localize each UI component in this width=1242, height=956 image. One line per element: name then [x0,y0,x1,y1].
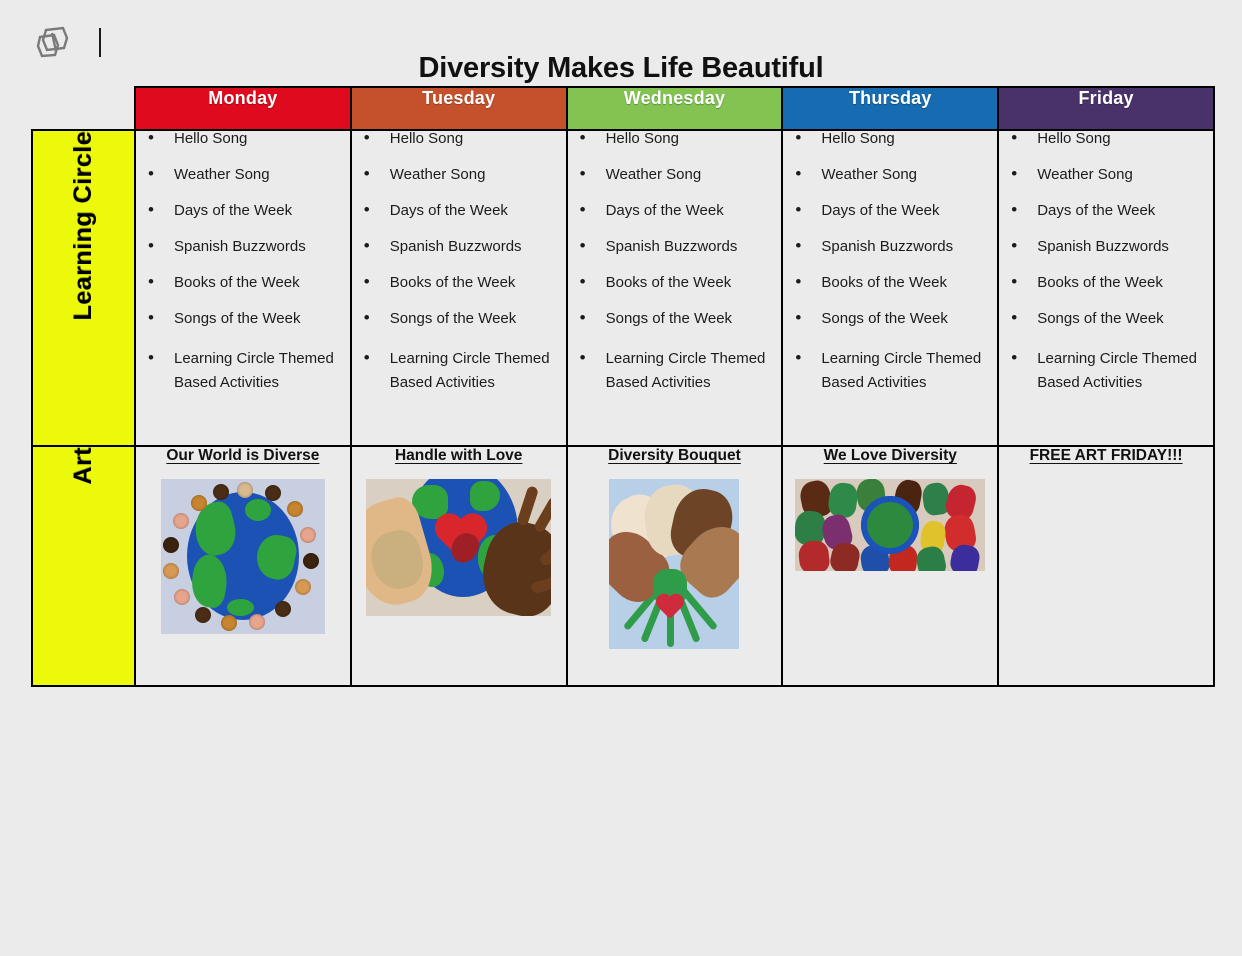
list-item: Learning Circle Themed Based Activities [386,347,566,395]
cell-art-friday: FREE ART FRIDAY!!! [998,446,1214,686]
list-item: Weather Song [602,167,782,183]
list-item: Weather Song [817,167,997,183]
column-header-wednesday: Wednesday [567,87,783,130]
red-heart-shape [655,595,685,623]
list-item: Days of the Week [817,203,997,219]
list-item: Songs of the Week [1033,311,1213,327]
child-face-shape [163,537,179,553]
list-learning-circle-wednesday: Hello Song Weather Song Days of the Week… [568,131,782,395]
cell-art-tuesday: Handle with Love [351,446,567,686]
table-corner-cell [32,87,135,130]
child-face-shape [221,615,237,631]
artwork-image-our-world-is-diverse [161,479,325,634]
list-item: Songs of the Week [602,311,782,327]
list-item: Books of the Week [386,275,566,291]
list-learning-circle-monday: Hello Song Weather Song Days of the Week… [136,131,350,395]
list-item: Books of the Week [1033,275,1213,291]
weekly-schedule-table: Monday Tuesday Wednesday Thursday Friday… [31,86,1215,687]
cell-art-wednesday: Diversity Bouquet [567,446,783,686]
row-label-learning-circle-text: Learning Circle [69,131,98,321]
child-face-shape [237,482,253,498]
list-item: Spanish Buzzwords [602,239,782,255]
child-face-shape [173,513,189,529]
art-title-monday: Our World is Diverse [166,447,319,465]
earth-landmass-shape [867,502,913,548]
list-item: Songs of the Week [817,311,997,327]
list-learning-circle-tuesday: Hello Song Weather Song Days of the Week… [352,131,566,395]
list-item: Days of the Week [386,203,566,219]
list-item: Songs of the Week [386,311,566,327]
art-title-wednesday: Diversity Bouquet [608,447,741,465]
list-learning-circle-thursday: Hello Song Weather Song Days of the Week… [783,131,997,395]
list-item: Spanish Buzzwords [386,239,566,255]
column-header-tuesday: Tuesday [351,87,567,130]
list-item: Spanish Buzzwords [170,239,350,255]
child-face-shape [213,484,229,500]
column-header-friday: Friday [998,87,1214,130]
list-item: Spanish Buzzwords [1033,239,1213,255]
column-header-thursday: Thursday [782,87,998,130]
page-title: Diversity Makes Life Beautiful [0,52,1242,85]
list-item: Books of the Week [602,275,782,291]
cell-learning-circle-thursday: Hello Song Weather Song Days of the Week… [782,130,998,446]
row-label-art: Art [32,446,135,686]
list-item: Songs of the Week [170,311,350,327]
list-item: Weather Song [1033,167,1213,183]
child-face-shape [300,527,316,543]
list-item: Days of the Week [170,203,350,219]
child-face-shape [275,601,291,617]
list-item: Spanish Buzzwords [817,239,997,255]
row-label-art-text: Art [69,447,98,485]
art-title-tuesday: Handle with Love [395,447,522,465]
list-item: Weather Song [386,167,566,183]
list-item: Weather Song [170,167,350,183]
child-face-shape [287,501,303,517]
list-item: Learning Circle Themed Based Activities [817,347,997,395]
child-face-shape [191,495,207,511]
landmass-shape [227,599,254,616]
landmass-shape [245,499,271,521]
list-item: Learning Circle Themed Based Activities [1033,347,1213,395]
table-row-learning-circle: Learning Circle Hello Song Weather Song … [32,130,1214,446]
child-face-shape [303,553,319,569]
child-face-shape [174,589,190,605]
table-row-art: Art Our World is Diverse [32,446,1214,686]
artwork-image-we-love-diversity [795,479,985,571]
list-item: Days of the Week [602,203,782,219]
list-learning-circle-friday: Hello Song Weather Song Days of the Week… [999,131,1213,395]
list-item: Hello Song [817,131,997,147]
list-item: Hello Song [1033,131,1213,147]
artwork-image-handle-with-love [366,479,551,616]
cell-learning-circle-tuesday: Hello Song Weather Song Days of the Week… [351,130,567,446]
cell-learning-circle-monday: Hello Song Weather Song Days of the Week… [135,130,351,446]
art-title-friday: FREE ART FRIDAY!!! [1030,447,1183,465]
list-item: Days of the Week [1033,203,1213,219]
child-face-shape [195,607,211,623]
list-item: Books of the Week [170,275,350,291]
cell-learning-circle-friday: Hello Song Weather Song Days of the Week… [998,130,1214,446]
cell-art-monday: Our World is Diverse [135,446,351,686]
child-face-shape [249,614,265,630]
brown-finger-shape [533,495,551,533]
row-label-learning-circle: Learning Circle [32,130,135,446]
child-face-shape [265,485,281,501]
table-header-row: Monday Tuesday Wednesday Thursday Friday [32,87,1214,130]
list-item: Hello Song [602,131,782,147]
list-item: Learning Circle Themed Based Activities [170,347,350,395]
child-face-shape [295,579,311,595]
list-item: Hello Song [170,131,350,147]
artwork-image-diversity-bouquet [609,479,739,649]
cell-art-thursday: We Love Diversity [782,446,998,686]
cell-learning-circle-wednesday: Hello Song Weather Song Days of the Week… [567,130,783,446]
handprint-shape [914,544,948,571]
handprint-shape [827,481,859,519]
list-item: Books of the Week [817,275,997,291]
list-item: Hello Song [386,131,566,147]
column-header-monday: Monday [135,87,351,130]
art-title-thursday: We Love Diversity [824,447,957,465]
list-item: Learning Circle Themed Based Activities [602,347,782,395]
child-face-shape [163,563,179,579]
